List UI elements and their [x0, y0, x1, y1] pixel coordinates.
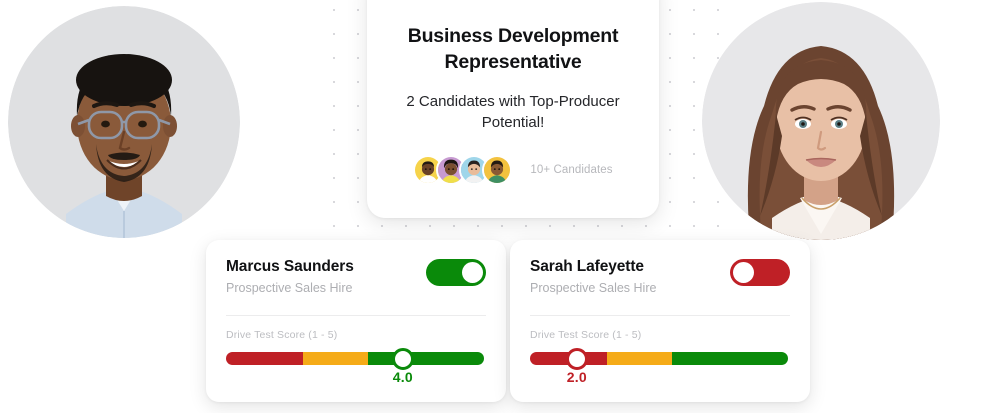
- portrait-marcus-saunders: [8, 6, 240, 238]
- card-divider: [226, 315, 486, 316]
- avatar-4[interactable]: [482, 155, 512, 185]
- candidate-card-marcus-saunders: Marcus Saunders Prospective Sales Hire D…: [206, 240, 506, 402]
- job-title: Business Development Representative: [387, 24, 639, 75]
- slider-track: [226, 352, 484, 365]
- candidate-toggle[interactable]: [426, 259, 486, 286]
- candidate-role: Prospective Sales Hire: [226, 281, 354, 295]
- candidate-toggle[interactable]: [730, 259, 790, 286]
- toggle-knob: [733, 262, 754, 283]
- slider-segment-green: [368, 352, 484, 365]
- slider-segment-amber: [303, 352, 368, 365]
- job-subtitle: 2 Candidates with Top-Producer Potential…: [387, 92, 639, 133]
- hero-illustration: Business Development Representative 2 Ca…: [0, 0, 1000, 413]
- slider-segment-green: [672, 352, 788, 365]
- score-value: 2.0: [567, 369, 587, 385]
- candidate-summary-row: 10+ Candidates: [387, 155, 639, 185]
- score-label: Drive Test Score (1 - 5): [226, 329, 486, 341]
- slider-thumb[interactable]: [566, 348, 588, 370]
- candidate-header: Sarah Lafeyette Prospective Sales Hire: [530, 258, 790, 295]
- candidate-card-sarah-lafeyette: Sarah Lafeyette Prospective Sales Hire D…: [510, 240, 810, 402]
- score-slider[interactable]: 2.0: [530, 352, 790, 386]
- card-divider: [530, 315, 790, 316]
- candidate-header: Marcus Saunders Prospective Sales Hire: [226, 258, 486, 295]
- slider-segment-red: [226, 352, 303, 365]
- score-slider[interactable]: 4.0: [226, 352, 486, 386]
- candidate-name: Marcus Saunders: [226, 258, 354, 276]
- slider-thumb[interactable]: [392, 348, 414, 370]
- candidate-count-label: 10+ Candidates: [530, 164, 612, 176]
- toggle-knob: [462, 262, 483, 283]
- job-card: Business Development Representative 2 Ca…: [367, 0, 659, 218]
- portrait-sarah-lafeyette: [702, 2, 940, 240]
- score-value: 4.0: [393, 369, 413, 385]
- candidate-name: Sarah Lafeyette: [530, 258, 656, 276]
- score-label: Drive Test Score (1 - 5): [530, 329, 790, 341]
- candidate-role: Prospective Sales Hire: [530, 281, 656, 295]
- avatar-stack: [413, 155, 512, 185]
- slider-segment-amber: [607, 352, 672, 365]
